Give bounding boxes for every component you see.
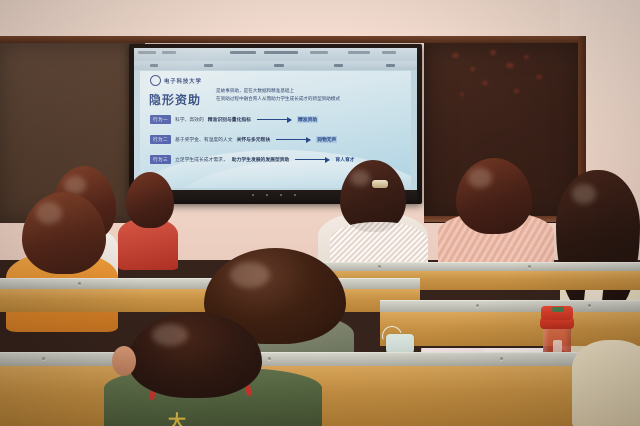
presentation-ribbon[interactable] bbox=[134, 48, 417, 61]
classroom-scene: 电子科技大学 隐形资助 是故事资助，是在大数据和精准基础上 在资助过程中融合育人… bbox=[0, 0, 640, 426]
bottle-latch-icon bbox=[552, 307, 564, 312]
bullet-result-1: 精准资助 bbox=[297, 116, 318, 123]
slide-subtitle-line1: 是故事资助，是在大数据和精准基础上 bbox=[216, 90, 294, 95]
presentation-toolbar[interactable] bbox=[134, 61, 417, 70]
institution-logo-text: 电子科技大学 bbox=[164, 77, 202, 85]
bullet-result-3: 育人育才 bbox=[335, 156, 354, 163]
bullet-text-1: 科学、高效的 bbox=[175, 116, 204, 123]
bullet-highlight-3: 助力学生发展的发展型资助 bbox=[232, 156, 290, 163]
bullet-text-3: 立足学生成长成才需求， bbox=[175, 156, 228, 163]
university-seal-icon bbox=[150, 75, 161, 86]
slide-bullet-row-2: 行为二 基于奖学金、有温度的人文 关怀与多元帮扶 润物无声 bbox=[150, 135, 337, 144]
arrow-icon-2 bbox=[276, 139, 310, 141]
hair-clip-accessory bbox=[372, 180, 388, 188]
bullet-tag-3: 行为三 bbox=[150, 155, 171, 164]
blackboard-frame-top bbox=[0, 36, 586, 43]
subtitle-line1-text: 是故事资助，是在大数据和精准基础上 bbox=[216, 89, 294, 94]
arrow-icon-3 bbox=[295, 159, 329, 161]
bullet-tag-2: 行为二 bbox=[150, 135, 171, 144]
slide-title: 隐形资助 bbox=[149, 91, 201, 108]
subtitle-line2-text: 在资助过程中融合育人从而助力学生成长成才的新型资助模式 bbox=[216, 97, 340, 102]
institution-logo: 电子科技大学 bbox=[150, 75, 202, 86]
slide-subtitle-line2: 在资助过程中融合育人从而助力学生成长成才的新型资助模式 bbox=[216, 98, 340, 103]
arrow-icon-1 bbox=[257, 119, 291, 121]
slide-bullet-row-3: 行为三 立足学生成长成才需求， 助力学生发展的发展型资助 育人育才 bbox=[150, 155, 355, 164]
bullet-highlight-2: 关怀与多元帮扶 bbox=[237, 136, 271, 143]
bullet-text-2: 基于奖学金、有温度的人文 bbox=[175, 136, 233, 143]
ear bbox=[112, 346, 136, 376]
uniform-logo-text: 大学 bbox=[168, 408, 196, 426]
bullet-highlight-1: 精准识别与量化指标 bbox=[208, 116, 251, 123]
desk-row-near bbox=[380, 300, 640, 346]
bullet-tag-1: 行为一 bbox=[150, 115, 171, 124]
slide-bullet-row-1: 行为一 科学、高效的 精准识别与量化指标 精准资助 bbox=[150, 115, 318, 124]
bullet-result-2: 润物无声 bbox=[316, 136, 337, 143]
